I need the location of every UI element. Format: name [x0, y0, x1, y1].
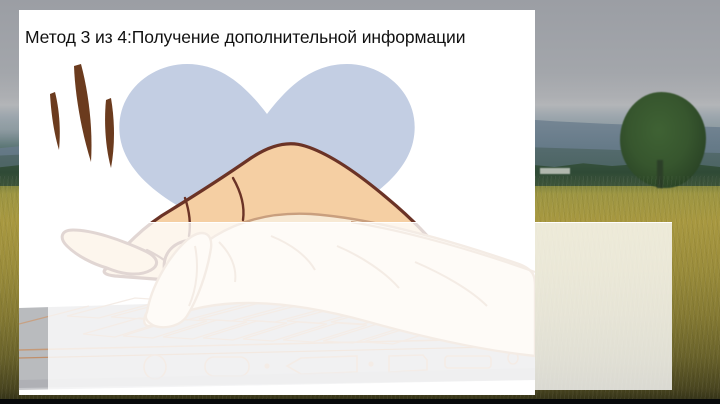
- motion-strokes: [50, 64, 114, 168]
- bottom-letterbox: [0, 399, 720, 404]
- screenshot-root: Метод 3 из 4:Получение дополнительной ин…: [0, 0, 720, 404]
- translucent-caption-panel: [48, 222, 672, 390]
- large-tree: [620, 92, 706, 188]
- distant-building-3: [540, 168, 570, 174]
- method-step-title: Метод 3 из 4:Получение дополнительной ин…: [25, 26, 465, 48]
